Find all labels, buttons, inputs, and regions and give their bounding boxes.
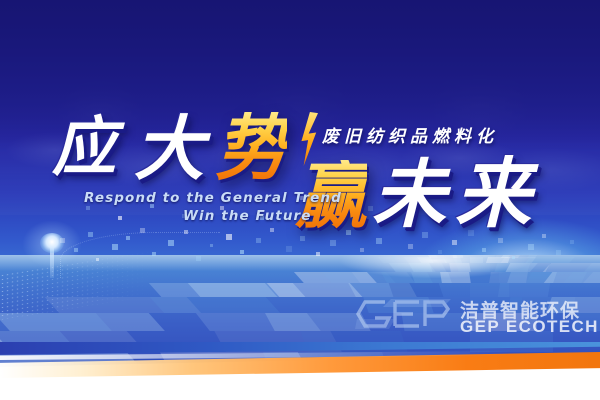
pixel-square (408, 244, 413, 249)
pixel-square (482, 248, 486, 252)
logo-name-english: GEP ECOTECH (460, 317, 599, 337)
pixel-square (220, 206, 224, 210)
pixel-square (346, 230, 351, 235)
pixel-square (528, 244, 534, 250)
pixel-square (556, 250, 561, 255)
pixel-square (140, 228, 145, 233)
pixel-square (512, 256, 515, 259)
promo-banner: 应 大 势 赢 未 来 废旧纺织品燃料化 Respond to the Gene… (0, 0, 600, 400)
pixel-square (256, 238, 261, 243)
pixel-square (240, 250, 244, 254)
pixel-square (210, 244, 213, 247)
floor-tile (150, 297, 281, 313)
pixel-square (182, 214, 186, 218)
pixel-square (260, 216, 264, 220)
brand-logo: 洁普智能环保 GEP ECOTECH (355, 293, 595, 341)
pixel-square (96, 258, 99, 261)
pixel-square (270, 228, 274, 232)
pixel-square (152, 252, 156, 256)
gep-logo-mark-icon (355, 295, 453, 333)
pixel-square (168, 240, 174, 246)
pixel-square (88, 232, 93, 237)
pixel-square (352, 218, 357, 223)
pixel-square (150, 204, 154, 208)
pixel-square (318, 212, 323, 217)
pixel-square (74, 248, 78, 252)
pixel-square (376, 238, 382, 244)
pixel-square (86, 206, 90, 210)
pixel-square (542, 234, 546, 238)
pixel-square (368, 206, 373, 211)
pixel-square (392, 256, 395, 259)
pixel-square (126, 236, 130, 240)
pixel-square (452, 240, 457, 245)
pixel-square (300, 196, 304, 200)
pixel-square (300, 236, 305, 241)
pixel-square (438, 250, 442, 254)
pixel-square (316, 252, 320, 256)
pixel-square (286, 246, 292, 252)
pixel-square (60, 238, 65, 243)
pixel-square (330, 240, 336, 246)
pixel-square (118, 216, 122, 220)
pixel-square (336, 200, 340, 204)
pixel-square (570, 240, 574, 244)
pixel-square (226, 234, 232, 240)
pixel-square (112, 244, 118, 250)
pixel-square (360, 248, 364, 252)
pixel-square (196, 256, 201, 261)
pixel-square (498, 238, 503, 243)
pixel-square (184, 230, 188, 234)
beacon-lamp-icon (40, 233, 64, 253)
top-dark-overlay (0, 0, 600, 150)
pixel-square (468, 230, 474, 236)
pixel-square (422, 232, 428, 238)
